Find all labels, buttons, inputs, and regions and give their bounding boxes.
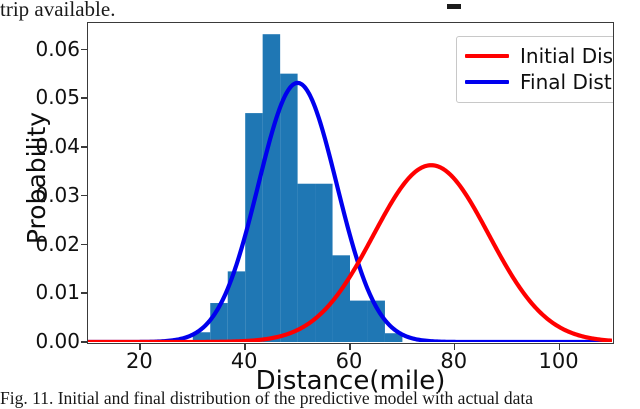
page-artifact-mark (447, 4, 461, 9)
y-tick-label: 0.02 (18, 234, 80, 254)
histogram-bar (280, 74, 297, 342)
y-tick-mark (81, 341, 87, 343)
x-tick-mark (244, 344, 246, 350)
legend-label-final: Final Distribution (520, 71, 614, 93)
x-tick-mark (349, 344, 351, 350)
figure-chart: Probability 0.000.010.020.030.040.050.06… (0, 16, 640, 381)
y-axis-ticks: 0.000.010.020.030.040.050.06 (8, 16, 80, 356)
x-tick-mark (454, 344, 456, 350)
x-tick-mark (139, 344, 141, 350)
x-axis-ticks: 20406080100 (0, 16, 640, 56)
y-tick-label: 0.00 (18, 331, 80, 351)
plot-area: Initial Distribution Final Distribution (87, 22, 614, 344)
y-tick-mark (81, 146, 87, 148)
y-tick-label: 0.01 (18, 282, 80, 302)
y-tick-mark (81, 97, 87, 99)
y-tick-label: 0.04 (18, 136, 80, 156)
histogram-bar (263, 34, 281, 342)
y-tick-mark (81, 49, 87, 51)
legend-item-final: Final Distribution (465, 69, 614, 95)
histogram-bar (350, 301, 367, 342)
figure-caption: Fig. 11. Initial and final distribution … (0, 386, 640, 409)
y-tick-mark (81, 244, 87, 246)
y-tick-mark (81, 292, 87, 294)
y-tick-mark (81, 195, 87, 197)
legend-swatch-final (465, 80, 509, 84)
x-tick-mark (559, 344, 561, 350)
y-tick-label: 0.03 (18, 185, 80, 205)
y-tick-label: 0.05 (18, 87, 80, 107)
